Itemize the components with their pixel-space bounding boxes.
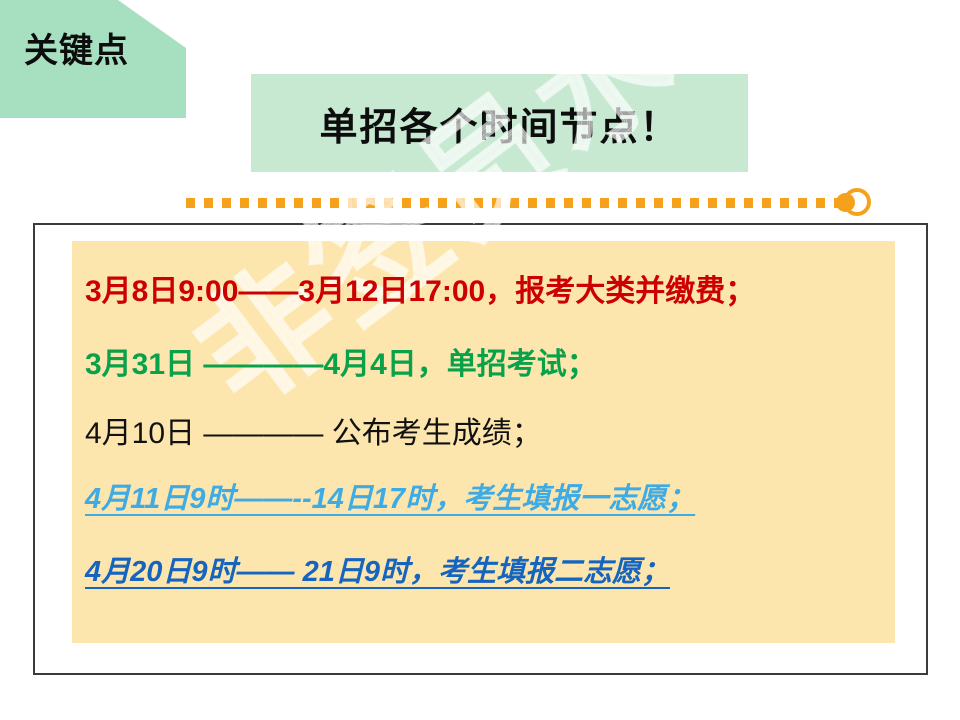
headline-title: 单招各个时间节点！ xyxy=(319,96,679,151)
timeline-line-list: 3月8日9:00——3月12日17:00，报考大类并缴费； 3月31日 ————… xyxy=(85,275,885,635)
slide-canvas: 关键点 单招各个时间节点！ 非签员水印 3月8日9:00——3月12日17:00… xyxy=(0,0,960,720)
timeline-line-3: 4月10日 ———— 公布考生成绩； xyxy=(85,417,542,450)
timeline-line-5: 4月20日9时—— 21日9时，考生填报二志愿； xyxy=(85,557,670,589)
dotted-line xyxy=(186,198,846,208)
timeline-line-1: 3月8日9:00——3月12日17:00，报考大类并缴费； xyxy=(85,275,755,308)
timeline-line-4: 4月11日9时——--14日17时，考生填报一志愿； xyxy=(85,484,695,516)
circle-dot-icon xyxy=(836,193,855,212)
key-point-banner-label: 关键点 xyxy=(24,30,129,72)
headline-box: 单招各个时间节点！ xyxy=(251,74,748,172)
key-point-banner: 关键点 xyxy=(0,0,186,118)
timeline-line-2: 3月31日 ————4月4日，单招考试； xyxy=(85,348,597,381)
dotted-divider xyxy=(186,198,846,208)
